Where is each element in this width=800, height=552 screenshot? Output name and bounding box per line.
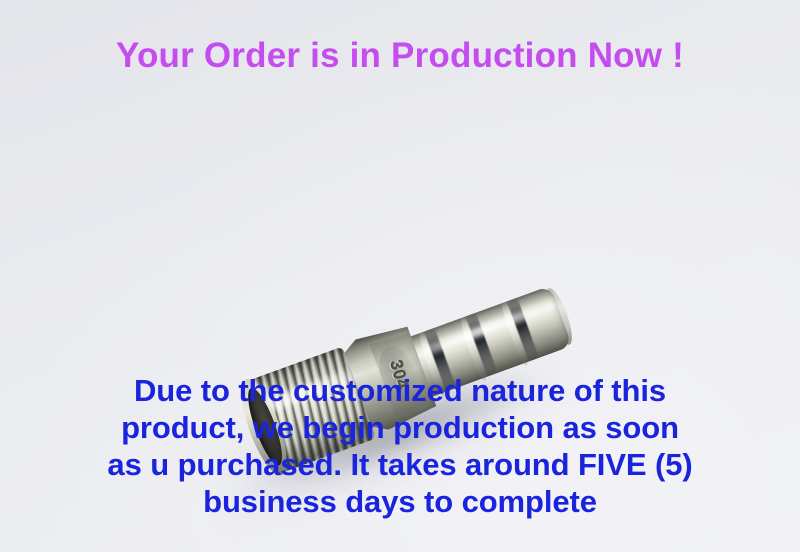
production-notice-line: Due to the customized nature of this [0,372,800,409]
production-notice-line: as u purchased. It takes around FIVE (5) [0,446,800,483]
product-photo: 304 [0,120,800,370]
production-notice-line: product, we begin production as soon [0,409,800,446]
production-notice-line: business days to complete [0,483,800,520]
production-notice: Due to the customized nature of this pro… [0,372,800,520]
page-title: Your Order is in Production Now ! [0,36,800,76]
promo-banner: Your Order is in Production Now ! 304 [0,0,800,552]
